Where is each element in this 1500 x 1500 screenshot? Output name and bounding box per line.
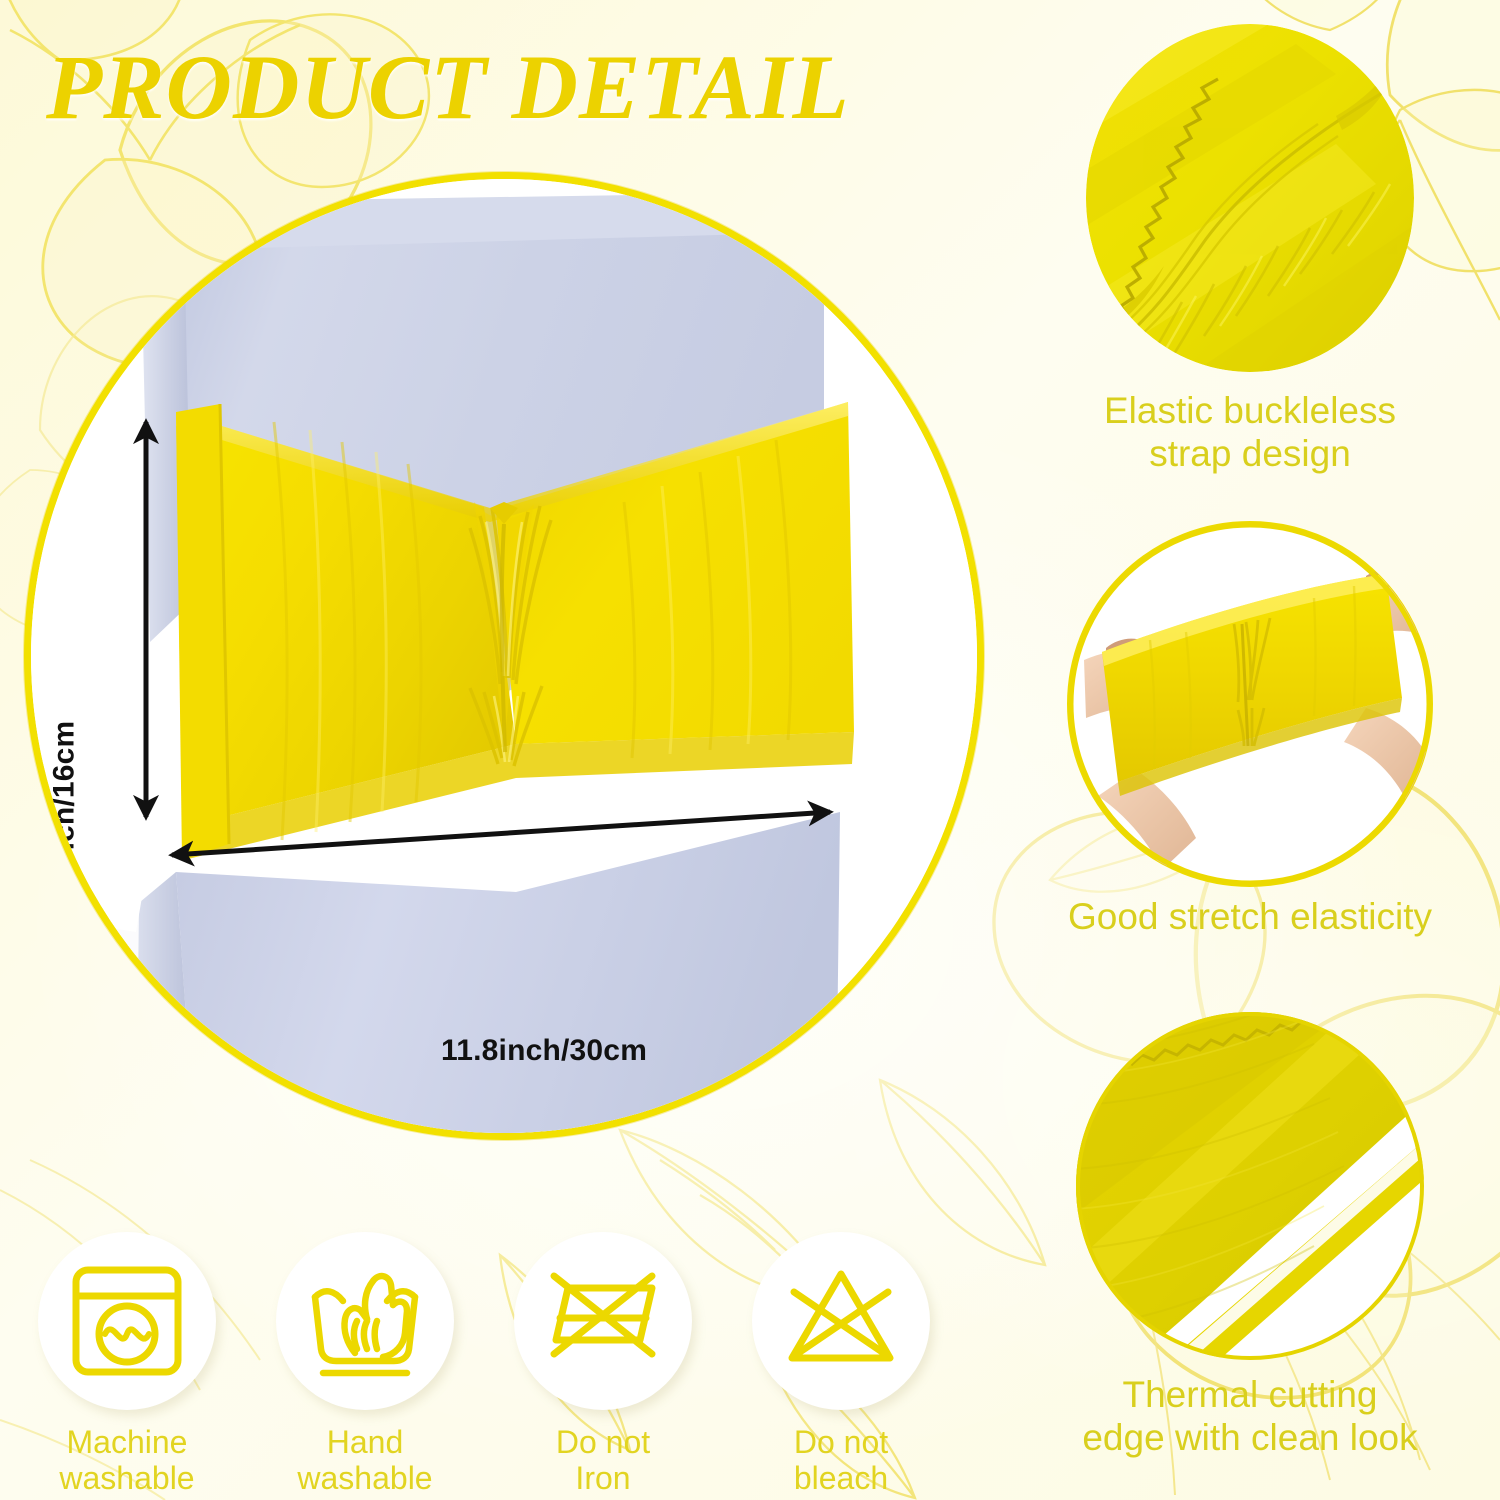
- care-label: Machine washable: [59, 1424, 194, 1497]
- elastic-shirring-closeup-photo: [1086, 24, 1414, 372]
- care-bubble: [514, 1232, 692, 1410]
- feature-caption: Elastic buckleless strap design: [1030, 390, 1470, 476]
- care-item-machine-washable: Machine washable: [8, 1232, 246, 1500]
- no-bleach-icon: [778, 1258, 904, 1384]
- feature-stretch-elasticity: Good stretch elasticity: [1030, 520, 1470, 939]
- hands-stretching-band-photo: [1066, 520, 1434, 888]
- care-bubble: [752, 1232, 930, 1410]
- feature-caption: Thermal cutting edge with clean look: [1030, 1374, 1470, 1460]
- care-bubble: [38, 1232, 216, 1410]
- feature-caption: Good stretch elasticity: [1030, 896, 1470, 939]
- care-label: Do not Iron: [556, 1424, 650, 1497]
- care-label: Do not bleach: [794, 1424, 888, 1497]
- washing-machine-icon: [64, 1258, 190, 1384]
- width-dimension-label: 11.8inch/30cm: [441, 1034, 647, 1068]
- feature-thermal-cut-edge: Thermal cutting edge with clean look: [1030, 1010, 1470, 1460]
- care-instructions-row: Machine washable Hand washable: [8, 1232, 960, 1500]
- dimension-arrows: [24, 172, 984, 1140]
- no-iron-icon: [540, 1258, 666, 1384]
- thermal-cut-edge-closeup-photo: [1074, 1010, 1426, 1362]
- care-label: Hand washable: [297, 1424, 432, 1497]
- care-item-hand-washable: Hand washable: [246, 1232, 484, 1500]
- hand-wash-icon: [301, 1257, 429, 1385]
- page-title: PRODUCT DETAIL: [46, 34, 850, 140]
- care-item-do-not-bleach: Do not bleach: [722, 1232, 960, 1500]
- product-hero-circle: 6.3inch/16cm 11.8inch/30cm: [24, 172, 984, 1140]
- height-dimension-label: 6.3inch/16cm: [47, 721, 81, 912]
- feature-elastic-strap: Elastic buckleless strap design: [1030, 24, 1470, 476]
- care-item-do-not-iron: Do not Iron: [484, 1232, 722, 1500]
- care-bubble: [276, 1232, 454, 1410]
